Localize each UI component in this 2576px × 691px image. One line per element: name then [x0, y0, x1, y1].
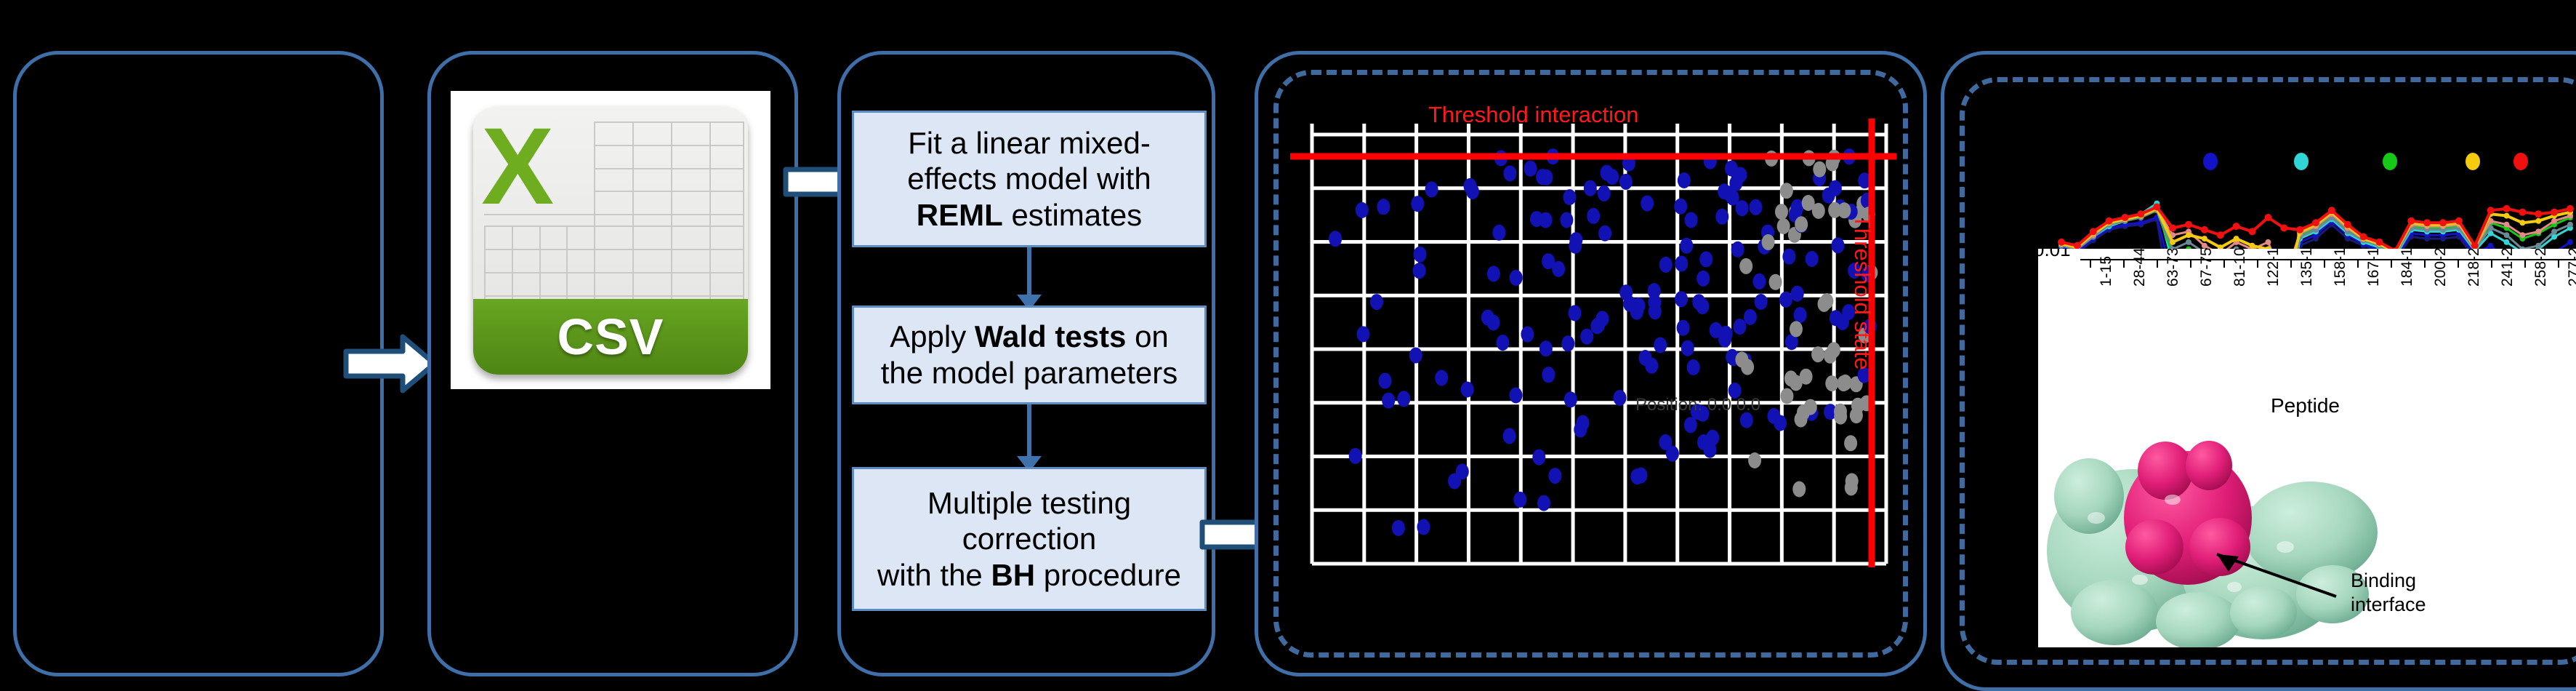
x-tick-label: 167-180 [2365, 249, 2383, 287]
csv-file-icon: X CSV [473, 106, 748, 375]
step-bh-box: Multiple testingcorrectionwith the BH pr… [852, 467, 1207, 611]
legend-dot-green [2383, 153, 2397, 170]
protein-structure-image [2045, 431, 2511, 647]
results-figure: 0.01 1-1528-4463-7367-7581-101122-129135… [1974, 95, 2576, 647]
x-tick-label: 135-144 [2298, 249, 2316, 287]
x-tick-label: 122-129 [2265, 249, 2282, 287]
x-tick-label: 81-101 [2231, 249, 2249, 287]
step-model-fit-box: Fit a linear mixed-effects model withREM… [852, 111, 1207, 247]
scatter-overlay-text: Position: 0.0 0.0 [1635, 395, 1760, 415]
binding-interface-annotation: Binding interface [2351, 569, 2426, 617]
x-tick-label: 184-199 [2399, 249, 2416, 287]
x-tick-label: 277-284 [2566, 249, 2576, 287]
step-wald-text: Apply Wald tests onthe model parameters [881, 319, 1178, 391]
scatter-vertical-label: Threshold state [1849, 215, 1875, 370]
connector-1 [1027, 247, 1031, 300]
step-wald-box: Apply Wald tests onthe model parameters [852, 305, 1207, 404]
workflow-diagram: X CSV Fit a linear mixed-effects model w… [0, 0, 2576, 687]
excel-x-letter: X [481, 111, 602, 229]
binding-annotation-line-2: interface [2351, 593, 2426, 617]
x-tick-label: 241-257 [2499, 249, 2516, 287]
legend-dot-cyan [2294, 153, 2309, 170]
x-tick-label: 28-44 [2131, 249, 2149, 287]
binding-annotation-line-1: Binding [2351, 569, 2426, 593]
step-model-fit-text: Fit a linear mixed-effects model withREM… [907, 125, 1151, 233]
csv-format-label: CSV [558, 308, 664, 366]
x-axis-label: Peptide [2271, 394, 2340, 418]
x-tick-label: 158-166 [2332, 249, 2349, 287]
arrow-input-to-csv [342, 331, 440, 396]
step-bh-text: Multiple testingcorrectionwith the BH pr… [877, 485, 1181, 594]
x-tick-label: 63-73 [2165, 249, 2182, 287]
csv-format-band: CSV [473, 299, 748, 374]
csv-file-card: X CSV [451, 91, 770, 389]
figure-white-panel: 0.01 1-1528-4463-7367-7581-101122-129135… [2038, 249, 2576, 647]
legend-dot-red [2513, 153, 2528, 170]
x-tick-label: 1-15 [2098, 256, 2115, 287]
legend-dot-yellow [2466, 153, 2480, 170]
x-tick-label: 218-237 [2466, 249, 2483, 287]
legend-dot-blue [2203, 153, 2218, 170]
x-tick-label: 67-75 [2198, 249, 2215, 287]
scatter-plot: Threshold interaction Position: 0.0 0.0 … [1287, 95, 1897, 567]
panel-input [13, 51, 384, 676]
x-tick-label: 258-266 [2532, 249, 2550, 287]
connector-2 [1027, 404, 1031, 461]
x-tick-label: 200-214 [2432, 249, 2450, 287]
scatter-canvas [1287, 95, 1897, 567]
